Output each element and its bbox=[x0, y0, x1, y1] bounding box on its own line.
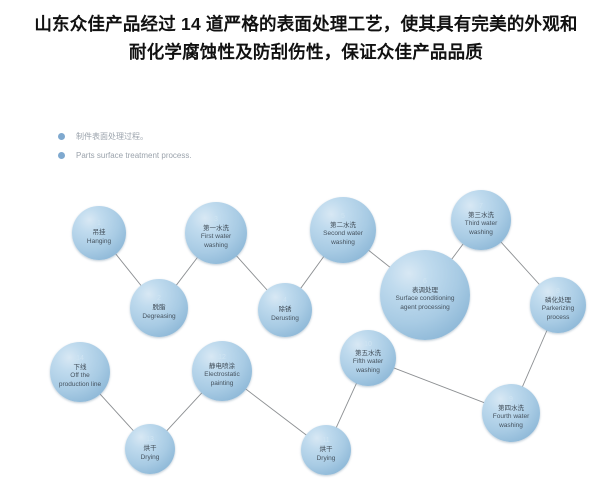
bullet-icon bbox=[58, 152, 65, 159]
process-node-label-cn: 第二水洗 bbox=[330, 222, 356, 230]
process-node-label-cn: 脱脂 bbox=[153, 304, 166, 312]
process-node-3[interactable]: 3第一水洗First water washing bbox=[185, 202, 247, 264]
process-node-number: 7 bbox=[479, 203, 483, 210]
process-node-6[interactable]: 6表调处理Surface conditioning agent processi… bbox=[380, 250, 470, 340]
process-node-number: 13 bbox=[146, 436, 154, 443]
process-node-label-cn: 除锈 bbox=[279, 306, 292, 314]
flow-connector bbox=[236, 255, 268, 290]
process-node-label-en: Degreasing bbox=[142, 313, 175, 321]
legend-item: Parts surface treatment process. bbox=[58, 147, 192, 163]
flow-connector bbox=[176, 257, 198, 286]
process-node-number: 11 bbox=[322, 437, 329, 444]
process-node-7[interactable]: 7第三水洗Third water washing bbox=[451, 190, 511, 250]
flow-connector bbox=[368, 250, 390, 268]
process-node-number: 6 bbox=[423, 278, 427, 285]
process-node-8[interactable]: 8磷化处理Parkerizing process bbox=[530, 277, 586, 333]
process-node-12[interactable]: 12静电喷涂Electrostatic painting bbox=[192, 341, 252, 401]
legend-item-label: 制件表面处理过程。 bbox=[76, 131, 148, 142]
process-node-label-cn: 第一水洗 bbox=[203, 225, 229, 233]
process-node-label-cn: 第五水洗 bbox=[355, 350, 381, 358]
process-node-label-cn: 第四水洗 bbox=[498, 405, 524, 413]
process-node-label-en: Fourth water washing bbox=[487, 413, 535, 429]
page-title: 山东众佳产品经过 14 道严格的表面处理工艺，使其具有完美的外观和耐化学腐蚀性及… bbox=[0, 0, 612, 67]
process-node-number: 8 bbox=[556, 288, 560, 295]
process-node-11[interactable]: 11烘干Drying bbox=[301, 425, 351, 475]
process-node-number: 2 bbox=[157, 295, 161, 302]
process-node-label-en: Second water washing bbox=[316, 230, 370, 246]
process-flow-diagram: 1吊挂Hanging2脱脂Degreasing3第一水洗First water … bbox=[0, 175, 612, 500]
flow-connector bbox=[100, 393, 134, 431]
bullet-icon bbox=[58, 133, 65, 140]
flow-connector bbox=[336, 383, 357, 429]
process-node-2[interactable]: 2脱脂Degreasing bbox=[130, 279, 188, 337]
process-node-label-en: First water washing bbox=[191, 233, 241, 249]
process-node-label-en: Parkerizing process bbox=[535, 305, 581, 321]
process-node-number: 5 bbox=[341, 213, 345, 220]
process-node-label-en: Drying bbox=[317, 455, 336, 463]
flow-connector bbox=[451, 243, 463, 260]
flow-connector bbox=[522, 330, 547, 388]
process-node-label-en: Third water washing bbox=[456, 220, 506, 236]
flow-connector bbox=[166, 392, 202, 431]
process-node-13[interactable]: 13烘干Drying bbox=[125, 424, 175, 474]
process-node-number: 14 bbox=[76, 355, 84, 362]
legend-item-label: Parts surface treatment process. bbox=[76, 151, 192, 160]
process-node-10[interactable]: 10第五水洗Fifth water washing bbox=[340, 330, 396, 386]
process-node-label-cn: 下线 bbox=[74, 364, 87, 372]
process-node-label-en: Surface conditioning agent processing bbox=[388, 295, 462, 311]
process-node-label-cn: 吊挂 bbox=[93, 229, 106, 237]
process-node-label-cn: 磷化处理 bbox=[545, 297, 571, 305]
process-node-label-en: Fifth water washing bbox=[345, 358, 391, 374]
process-node-label-en: Off the production line bbox=[55, 372, 105, 388]
process-node-label-cn: 表调处理 bbox=[412, 287, 438, 295]
process-node-4[interactable]: 4除锈Derusting bbox=[258, 283, 312, 337]
process-node-number: 10 bbox=[364, 341, 372, 348]
process-node-number: 4 bbox=[283, 297, 287, 304]
process-node-9[interactable]: 9第四水洗Fourth water washing bbox=[482, 384, 540, 442]
process-node-5[interactable]: 5第二水洗Second water washing bbox=[310, 197, 376, 263]
flow-connector bbox=[393, 368, 485, 403]
flow-connector bbox=[500, 241, 539, 284]
process-node-label-cn: 静电喷涂 bbox=[209, 363, 235, 371]
process-node-label-cn: 第三水洗 bbox=[468, 212, 494, 220]
process-node-label-en: Drying bbox=[141, 454, 160, 462]
process-node-label-en: Hanging bbox=[87, 238, 111, 246]
flow-connector bbox=[115, 253, 141, 286]
process-node-label-cn: 烘干 bbox=[320, 446, 333, 454]
legend: 制件表面处理过程。 Parts surface treatment proces… bbox=[58, 128, 192, 166]
process-node-label-en: Derusting bbox=[271, 315, 299, 323]
process-node-number: 3 bbox=[214, 216, 218, 223]
legend-item: 制件表面处理过程。 bbox=[58, 128, 192, 144]
process-node-number: 9 bbox=[509, 396, 513, 403]
process-node-1[interactable]: 1吊挂Hanging bbox=[72, 206, 126, 260]
process-node-number: 1 bbox=[97, 220, 101, 227]
process-node-number: 12 bbox=[218, 354, 226, 361]
flow-connector bbox=[300, 256, 324, 289]
process-node-14[interactable]: 14下线Off the production line bbox=[50, 342, 110, 402]
process-node-label-cn: 烘干 bbox=[144, 445, 157, 453]
flow-connector bbox=[245, 389, 307, 436]
process-node-label-en: Electrostatic painting bbox=[197, 371, 247, 387]
